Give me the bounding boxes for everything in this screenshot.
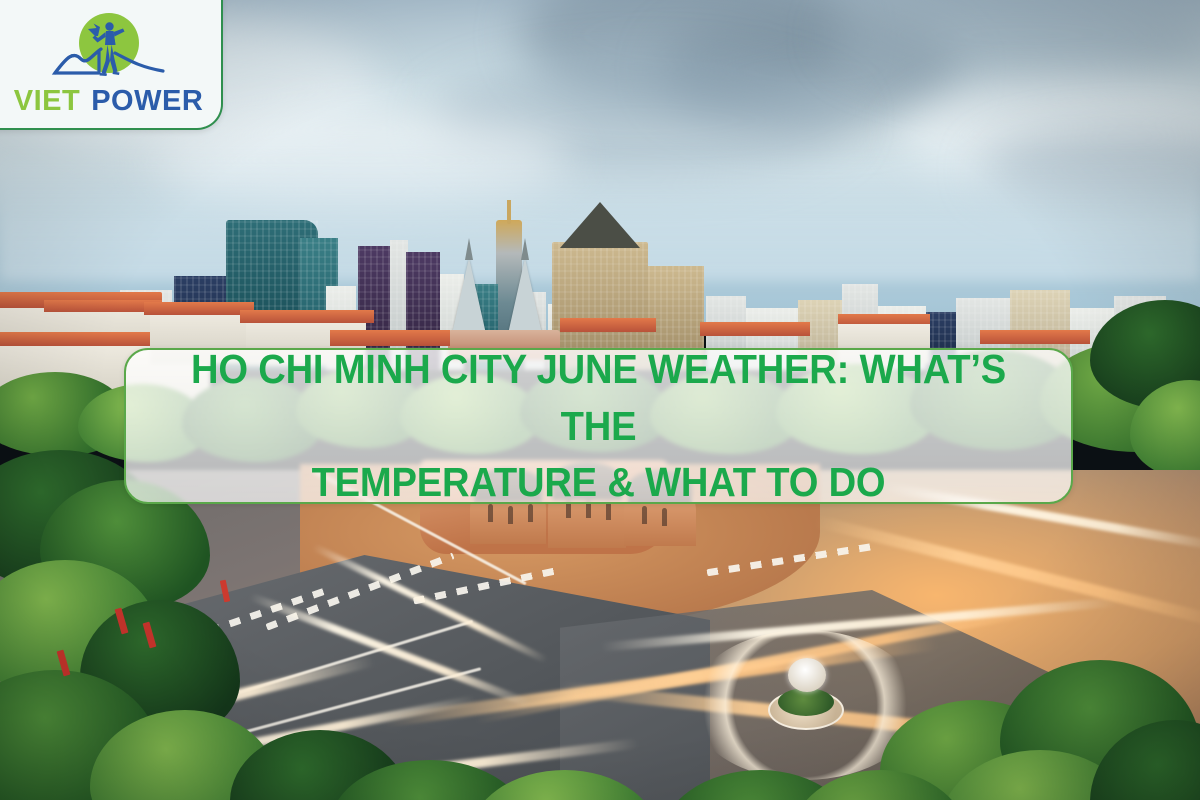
logo-word-viet: VIET [14, 85, 80, 118]
page-title-line-1: HO CHI MINH CITY JUNE WEATHER: WHAT’S TH… [191, 348, 1006, 449]
viet-power-logo-card[interactable]: VIET POWER [0, 0, 223, 130]
aerial-street-scene [0, 470, 1200, 800]
page-title-line-2: TEMPERATURE & WHAT TO DO [312, 459, 886, 504]
page-title: HO CHI MINH CITY JUNE WEATHER: WHAT’S TH… [159, 348, 1038, 504]
hero-banner-image: VIET POWER HO CHI MINH CITY JUNE WEATHER… [0, 0, 1200, 800]
article-title-banner: HO CHI MINH CITY JUNE WEATHER: WHAT’S TH… [124, 348, 1073, 504]
viet-power-logo-icon [43, 11, 175, 87]
logo-word-power: POWER [91, 85, 203, 118]
logo-wordmark: VIET POWER [14, 85, 204, 118]
